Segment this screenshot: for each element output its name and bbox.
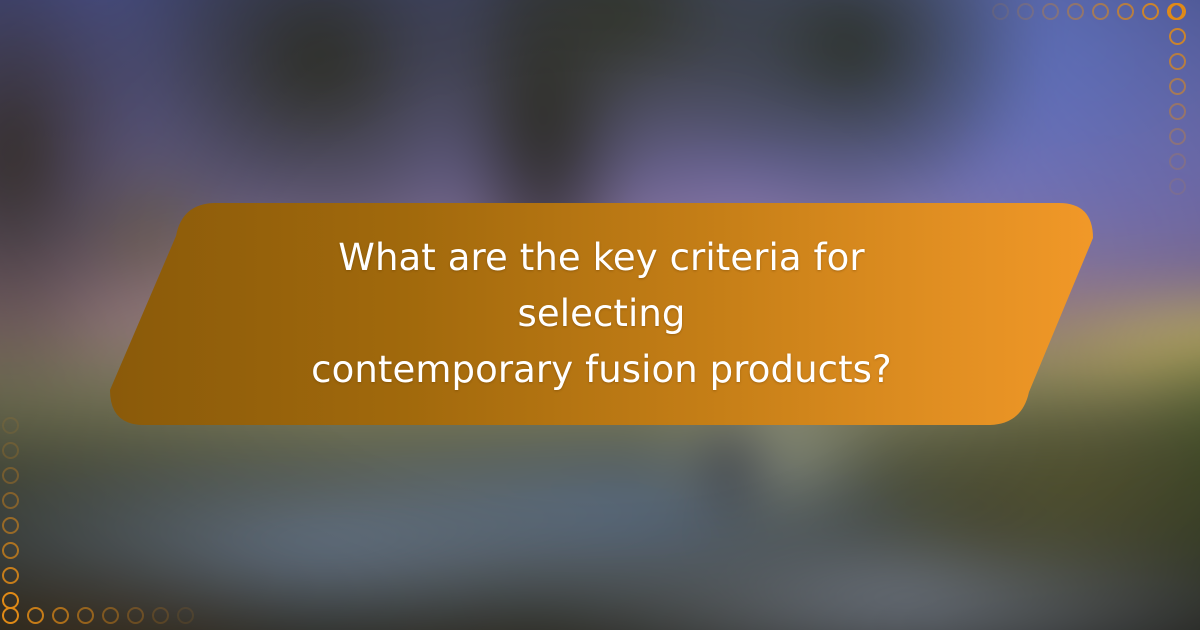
question-line-2: contemporary fusion products?: [311, 348, 892, 391]
decorative-circle: [2, 467, 19, 484]
decorative-circle: [102, 607, 119, 624]
decorative-dots-left-column: [2, 417, 22, 627]
decorative-circle: [992, 3, 1009, 20]
decorative-circle: [1169, 153, 1186, 170]
decorative-dots-top-right: [992, 3, 1192, 23]
decorative-circle: [1092, 3, 1109, 20]
question-line-1: What are the key criteria for selecting: [338, 236, 864, 335]
decorative-circle: [1067, 3, 1084, 20]
decorative-dots-bottom-left: [2, 607, 212, 627]
slide-canvas: What are the key criteria for selecting …: [0, 0, 1200, 630]
decorative-circle: [1169, 178, 1186, 195]
decorative-circle: [2, 492, 19, 509]
decorative-circle: [152, 607, 169, 624]
decorative-circle: [1169, 78, 1186, 95]
decorative-circle: [1169, 53, 1186, 70]
decorative-circle: [1142, 3, 1159, 20]
decorative-circle: [1169, 128, 1186, 145]
decorative-circle: [27, 607, 44, 624]
decorative-circle: [1042, 3, 1059, 20]
decorative-circle: [1169, 3, 1186, 20]
decorative-circle: [2, 592, 19, 609]
decorative-circle: [77, 607, 94, 624]
question-text: What are the key criteria for selecting …: [252, 230, 952, 399]
question-card: What are the key criteria for selecting …: [108, 202, 1095, 426]
decorative-circle: [1117, 3, 1134, 20]
decorative-circle: [2, 567, 19, 584]
question-text-block: What are the key criteria for selecting …: [108, 202, 1095, 426]
decorative-circle: [2, 442, 19, 459]
decorative-circle: [127, 607, 144, 624]
decorative-circle: [52, 607, 69, 624]
decorative-circle: [1169, 103, 1186, 120]
decorative-circle: [177, 607, 194, 624]
decorative-circle: [2, 542, 19, 559]
decorative-circle: [1169, 28, 1186, 45]
decorative-circle: [2, 417, 19, 434]
decorative-circle: [2, 517, 19, 534]
decorative-dots-right-column: [1169, 3, 1189, 223]
decorative-circle: [1017, 3, 1034, 20]
